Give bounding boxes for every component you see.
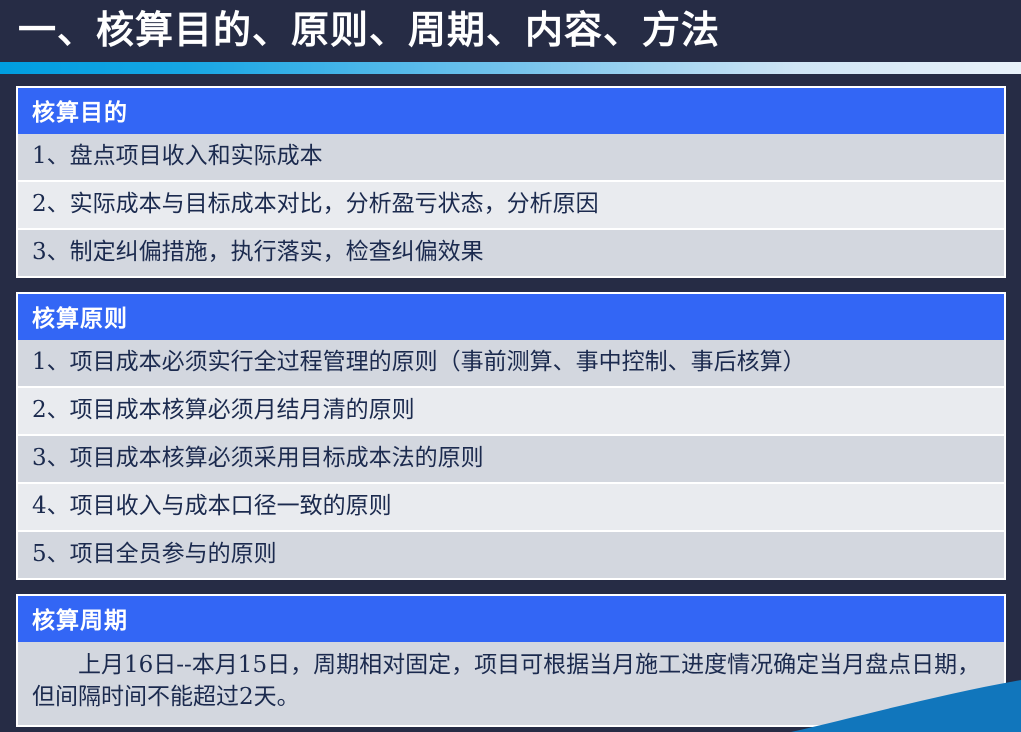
list-item: 3、项目成本核算必须采用目标成本法的原则: [18, 436, 1004, 484]
list-item: 5、项目全员参与的原则: [18, 532, 1004, 578]
list-item: 2、项目成本核算必须月结月清的原则: [18, 388, 1004, 436]
card-accounting-cycle: 核算周期 上月16日--本月15日，周期相对固定，项目可根据当月施工进度情况确定…: [16, 594, 1006, 727]
card-accounting-purpose: 核算目的 1、盘点项目收入和实际成本 2、实际成本与目标成本对比，分析盈亏状态，…: [16, 86, 1006, 278]
list-item: 1、项目成本必须实行全过程管理的原则（事前测算、事中控制、事后核算）: [18, 340, 1004, 388]
list-item: 4、项目收入与成本口径一致的原则: [18, 484, 1004, 532]
title-divider-gradient-bar: [0, 62, 1021, 74]
card-header-accounting-purpose: 核算目的: [18, 88, 1004, 134]
list-item: 1、盘点项目收入和实际成本: [18, 134, 1004, 182]
page-title: 一、核算目的、原则、周期、内容、方法: [18, 2, 720, 58]
card-row-list: 1、项目成本必须实行全过程管理的原则（事前测算、事中控制、事后核算） 2、项目成…: [18, 340, 1004, 578]
card-header-accounting-principles: 核算原则: [18, 294, 1004, 340]
accounting-cycle-paragraph: 上月16日--本月15日，周期相对固定，项目可根据当月施工进度情况确定当月盘点日…: [18, 642, 1004, 725]
card-accounting-principles: 核算原则 1、项目成本必须实行全过程管理的原则（事前测算、事中控制、事后核算） …: [16, 292, 1006, 580]
content-card-stack: 核算目的 1、盘点项目收入和实际成本 2、实际成本与目标成本对比，分析盈亏状态，…: [16, 86, 1006, 732]
card-row-list: 1、盘点项目收入和实际成本 2、实际成本与目标成本对比，分析盈亏状态，分析原因 …: [18, 134, 1004, 276]
list-item: 2、实际成本与目标成本对比，分析盈亏状态，分析原因: [18, 182, 1004, 230]
card-header-accounting-cycle: 核算周期: [18, 596, 1004, 642]
list-item: 3、制定纠偏措施，执行落实，检查纠偏效果: [18, 230, 1004, 276]
